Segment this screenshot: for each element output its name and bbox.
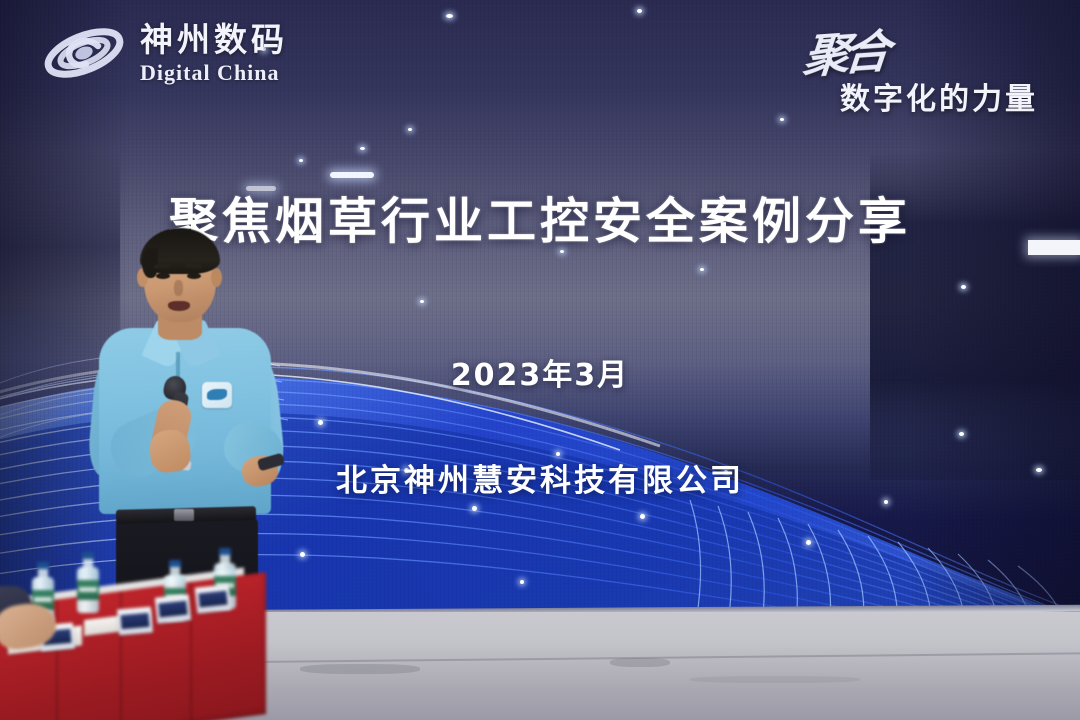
speaker-ear-right: [211, 268, 222, 287]
brand-name-en: Digital China: [140, 62, 288, 84]
name-card: [195, 584, 232, 613]
event-logo: 聚合 数字化的力量: [782, 16, 1052, 116]
brand-logo: 神州数码 Digital China: [42, 18, 288, 88]
name-card: [117, 607, 153, 636]
speaker-belt-buckle: [174, 509, 194, 521]
speaker-mouth: [168, 301, 190, 311]
brand-name-cn: 神州数码: [140, 23, 288, 56]
speaker-eye-right: [187, 273, 201, 279]
speaker-hair: [140, 228, 220, 274]
name-card: [155, 594, 192, 623]
light-streak: [330, 172, 374, 178]
speaker-eye-left: [156, 273, 170, 279]
event-slogan: 数字化的力量: [840, 74, 1038, 118]
speaker-chest-badge: [202, 382, 232, 408]
speaker-nose: [174, 280, 183, 296]
presentation-photo: 神州数码 Digital China 聚合 数字化的力量 聚焦烟草行业工控安全案…: [0, 0, 1080, 720]
galaxy-swirl-logo-icon: [42, 18, 126, 88]
